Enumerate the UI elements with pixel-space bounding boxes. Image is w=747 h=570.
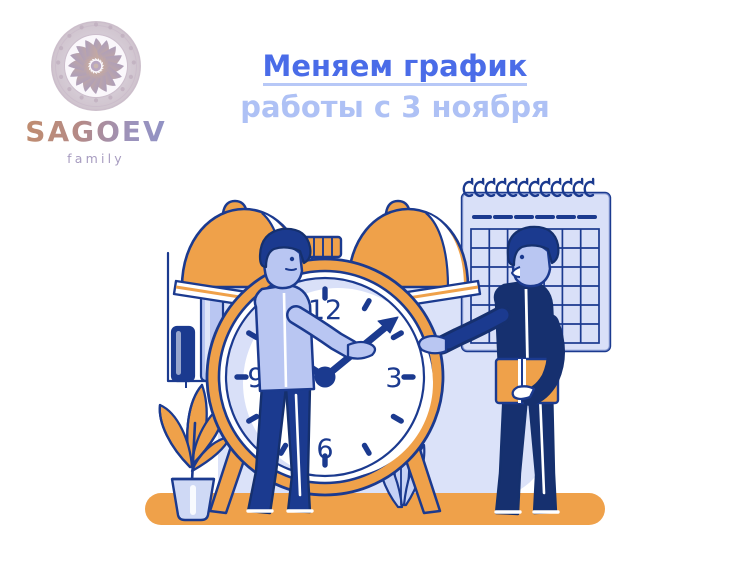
brand-tagline: family bbox=[22, 151, 170, 166]
page-title-line-1: Меняем график bbox=[263, 50, 528, 86]
schedule-change-illustration: 12 3 6 9 bbox=[110, 175, 640, 545]
clock-numeral-6: 6 bbox=[316, 434, 333, 465]
brand-logo-block: SAGOEV family bbox=[22, 18, 170, 178]
page-title-line-2: работы с 3 ноября bbox=[180, 91, 610, 123]
sun-mandala-icon bbox=[48, 18, 144, 114]
clock-numeral-3: 3 bbox=[385, 363, 402, 394]
page-title: Меняем график работы с 3 ноября bbox=[180, 50, 610, 124]
brand-name: SAGOEV bbox=[22, 118, 170, 146]
poster-canvas: SAGOEV family Меняем график работы с 3 н… bbox=[0, 0, 747, 570]
